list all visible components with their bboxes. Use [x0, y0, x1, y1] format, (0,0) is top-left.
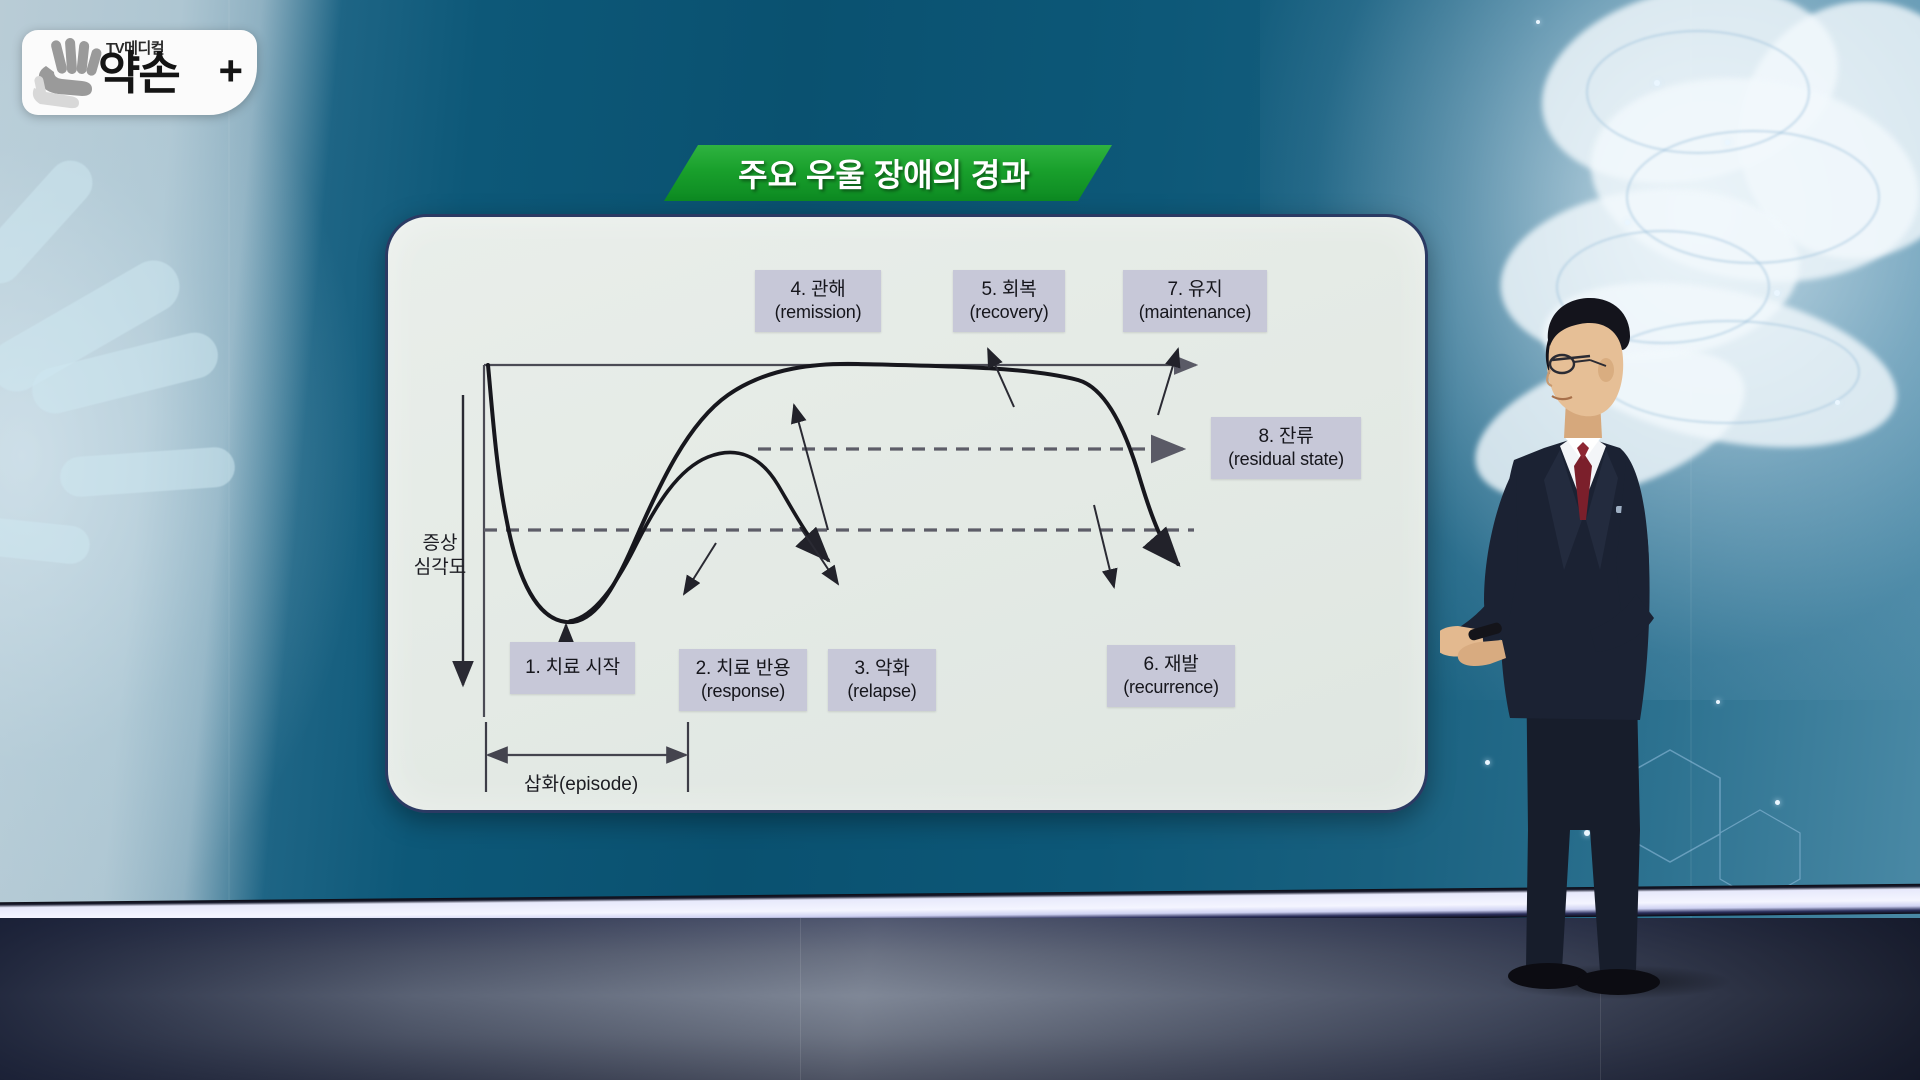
- floor-seam: [800, 918, 801, 1080]
- depression-course-chart: [388, 217, 1425, 810]
- x-axis-span-label: 삽화(episode): [524, 769, 638, 796]
- callout-treatment-start: 1. 치료 시작: [510, 642, 635, 694]
- callout-response: 2. 치료 반용 (response): [679, 649, 807, 711]
- logo-title: 약손: [98, 50, 179, 96]
- broadcast-stage: TV메디컬 약손 + 주요 우울 장애의 경과: [0, 0, 1920, 1080]
- presenter: [1440, 270, 1710, 1010]
- presentation-slide: 증상 심각도 삽화(episode) 1. 치료 시작 2. 치료 반용 (re…: [385, 214, 1428, 813]
- logo-plus-icon: +: [218, 50, 243, 92]
- particle-dot: [1716, 700, 1720, 704]
- callout-recurrence: 6. 재발 (recurrence): [1107, 645, 1235, 707]
- channel-logo: TV메디컬 약손 +: [22, 30, 257, 115]
- title-banner: 주요 우울 장애의 경과: [664, 145, 1112, 201]
- callout-recovery: 5. 회복 (recovery): [953, 270, 1065, 332]
- callout-relapse: 3. 악화 (relapse): [828, 649, 936, 711]
- callout-maintenance: 7. 유지 (maintenance): [1123, 270, 1267, 332]
- y-axis-label: 증상 심각도: [402, 532, 478, 581]
- page-title: 주요 우울 장애의 경과: [738, 150, 1030, 196]
- callout-residual-state: 8. 잔류 (residual state): [1211, 417, 1361, 479]
- callout-remission: 4. 관해 (remission): [755, 270, 881, 332]
